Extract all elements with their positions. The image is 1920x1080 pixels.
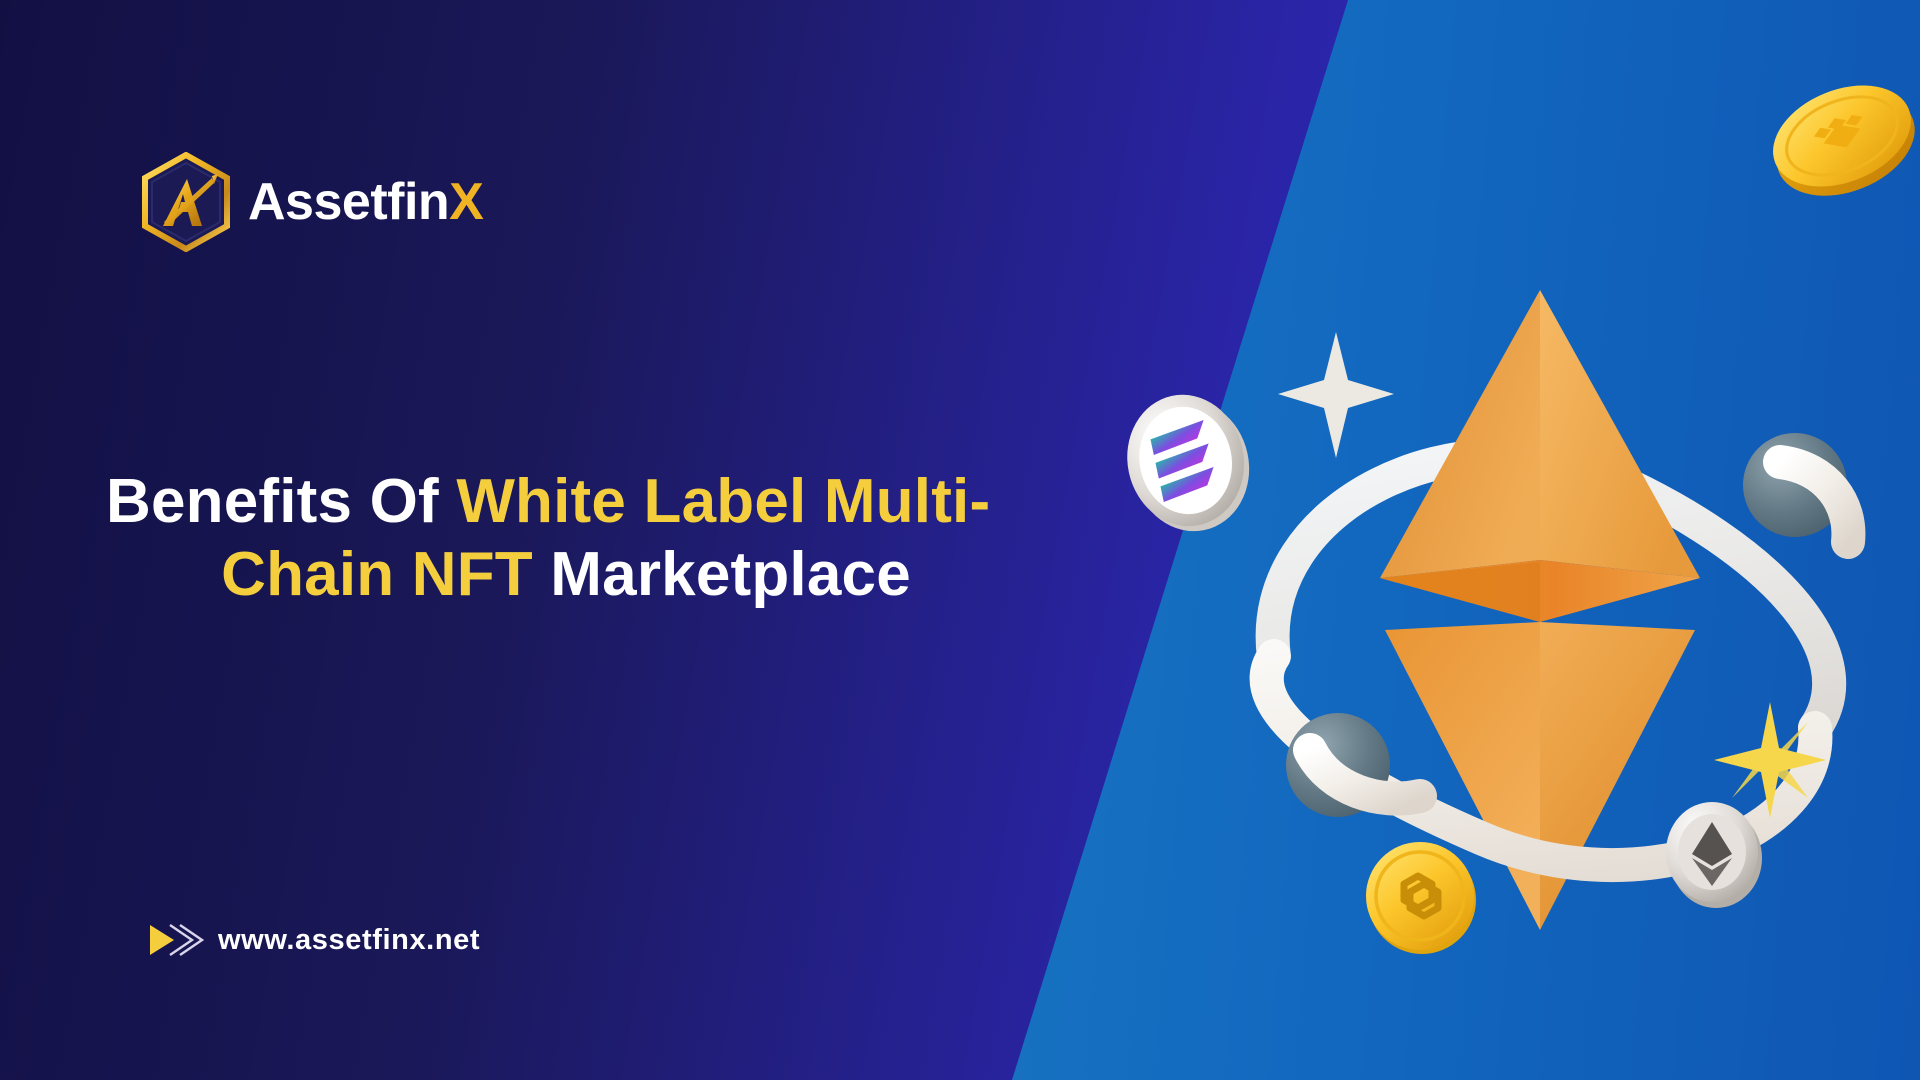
hexagon-a-monogram-icon (140, 152, 232, 252)
headline-line2-gold: Chain NFT (221, 540, 550, 609)
polygon-coin-icon (1366, 842, 1476, 954)
page-title: Benefits Of White Label Multi- Chain NFT… (106, 465, 1116, 611)
headline-line-2: Chain NFT Marketplace (106, 538, 1116, 611)
headline-line1-gold: White Label Multi- (456, 467, 990, 536)
headline-line-1: Benefits Of White Label Multi- (106, 465, 1116, 538)
brand-logo[interactable]: AssetfinX (140, 152, 483, 252)
brand-name-primary: Assetfin (248, 173, 449, 231)
play-chevrons-icon (148, 920, 204, 960)
website-url-text: www.assetfinx.net (218, 924, 480, 957)
brand-name-accent: X (449, 173, 483, 231)
crypto-illustration (1180, 230, 1920, 970)
ethereum-3d-diamond (1380, 290, 1700, 930)
headline-line1-white: Benefits Of (106, 467, 456, 536)
banner-canvas: AssetfinX Benefits Of White Label Multi-… (0, 0, 1920, 1080)
website-url[interactable]: www.assetfinx.net (148, 920, 480, 960)
headline-line2-white: Marketplace (550, 540, 911, 609)
sparkle-white-icon (1278, 332, 1394, 458)
brand-wordmark: AssetfinX (248, 176, 483, 228)
